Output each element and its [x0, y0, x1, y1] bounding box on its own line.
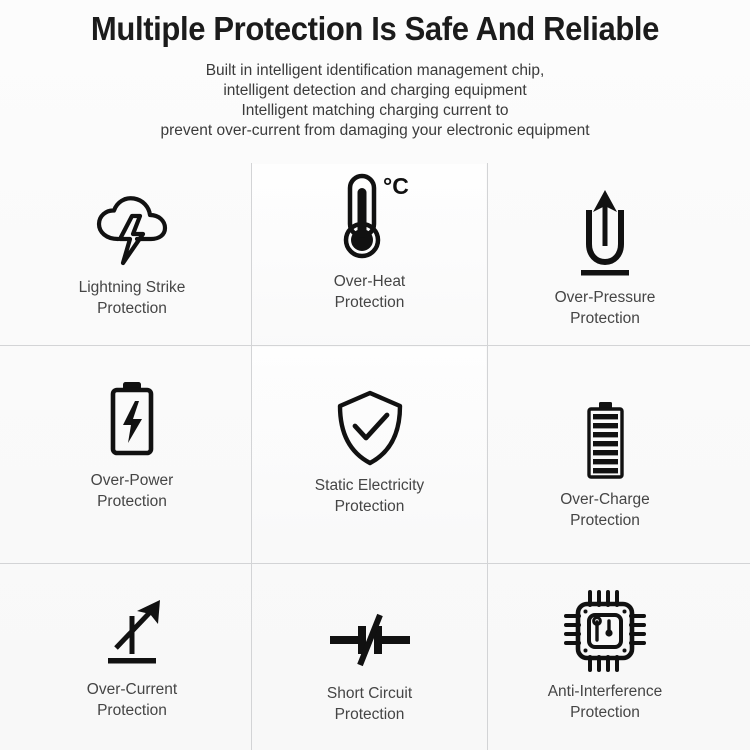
- feature-cell-lightning-strike[interactable]: Lightning Strike Protection: [22, 191, 242, 319]
- grid-divider-horizontal-1: [0, 345, 750, 346]
- promo-page: Multiple Protection Is Safe And Reliable…: [0, 0, 750, 750]
- feature-label-line-1: Over-Power: [91, 470, 174, 491]
- celsius-unit-text: °C: [383, 173, 409, 199]
- battery-full-bars-icon: [577, 399, 633, 483]
- feature-label-line-2: Protection: [555, 308, 656, 329]
- cloud-lightning-icon: [90, 191, 174, 271]
- feature-cell-short-circuit[interactable]: Short Circuit Protection: [262, 603, 477, 725]
- feature-cell-static-electricity[interactable]: Static Electricity Protection: [262, 387, 477, 517]
- grid-divider-vertical-1: [251, 163, 252, 750]
- grid-divider-horizontal-2: [0, 563, 750, 564]
- feature-label: Short Circuit Protection: [327, 683, 412, 725]
- feature-label: Over-Current Protection: [87, 679, 177, 721]
- feature-label-line-2: Protection: [560, 510, 650, 531]
- feature-label-line-2: Protection: [79, 298, 186, 319]
- feature-label: Lightning Strike Protection: [79, 277, 186, 319]
- feature-label-line-1: Over-Pressure: [555, 287, 656, 308]
- header: Multiple Protection Is Safe And Reliable…: [0, 0, 750, 141]
- feature-label: Over-Power Protection: [91, 470, 174, 512]
- feature-label: Static Electricity Protection: [315, 475, 424, 517]
- subtitle-line-2: intelligent detection and charging equip…: [0, 81, 750, 101]
- shield-check-icon: [332, 387, 408, 469]
- thermometer-celsius-icon: °C: [331, 169, 409, 265]
- feature-label-line-2: Protection: [315, 496, 424, 517]
- feature-label-line-1: Lightning Strike: [79, 277, 186, 298]
- subtitle-line-3: Intelligent matching charging current to: [0, 101, 750, 121]
- feature-label-line-2: Protection: [91, 491, 174, 512]
- feature-label-line-1: Over-Charge: [560, 489, 650, 510]
- page-title: Multiple Protection Is Safe And Reliable: [23, 8, 728, 49]
- microchip-icon: [562, 587, 648, 675]
- rising-arrow-baseline-icon: [92, 591, 172, 673]
- feature-label-line-1: Over-Current: [87, 679, 177, 700]
- feature-label-line-2: Protection: [548, 702, 663, 723]
- short-circuit-arrows-icon: [322, 603, 418, 677]
- feature-label: Over-Heat Protection: [334, 271, 406, 313]
- feature-grid: Lightning Strike Protection °C Over-Heat…: [0, 163, 750, 750]
- feature-cell-over-charge[interactable]: Over-Charge Protection: [495, 399, 715, 531]
- battery-bolt-icon: [101, 378, 163, 464]
- feature-cell-anti-interference[interactable]: Anti-Interference Protection: [495, 587, 715, 723]
- subtitle-line-4: prevent over-current from damaging your …: [0, 121, 750, 141]
- pressure-up-arrow-icon: [567, 185, 643, 281]
- page-subtitle: Built in intelligent identification mana…: [0, 61, 750, 141]
- feature-label: Anti-Interference Protection: [548, 681, 663, 723]
- feature-cell-over-power[interactable]: Over-Power Protection: [22, 378, 242, 512]
- feature-label: Over-Pressure Protection: [555, 287, 656, 329]
- feature-label-line-2: Protection: [87, 700, 177, 721]
- feature-label-line-1: Static Electricity: [315, 475, 424, 496]
- feature-label-line-2: Protection: [327, 704, 412, 725]
- subtitle-line-1: Built in intelligent identification mana…: [0, 61, 750, 81]
- feature-label-line-1: Over-Heat: [334, 271, 406, 292]
- feature-label-line-2: Protection: [334, 292, 406, 313]
- feature-label-line-1: Short Circuit: [327, 683, 412, 704]
- feature-cell-over-pressure[interactable]: Over-Pressure Protection: [495, 185, 715, 329]
- feature-cell-over-current[interactable]: Over-Current Protection: [22, 591, 242, 721]
- grid-divider-vertical-2: [487, 163, 488, 750]
- feature-label: Over-Charge Protection: [560, 489, 650, 531]
- feature-label-line-1: Anti-Interference: [548, 681, 663, 702]
- feature-cell-over-heat[interactable]: °C Over-Heat Protection: [262, 169, 477, 313]
